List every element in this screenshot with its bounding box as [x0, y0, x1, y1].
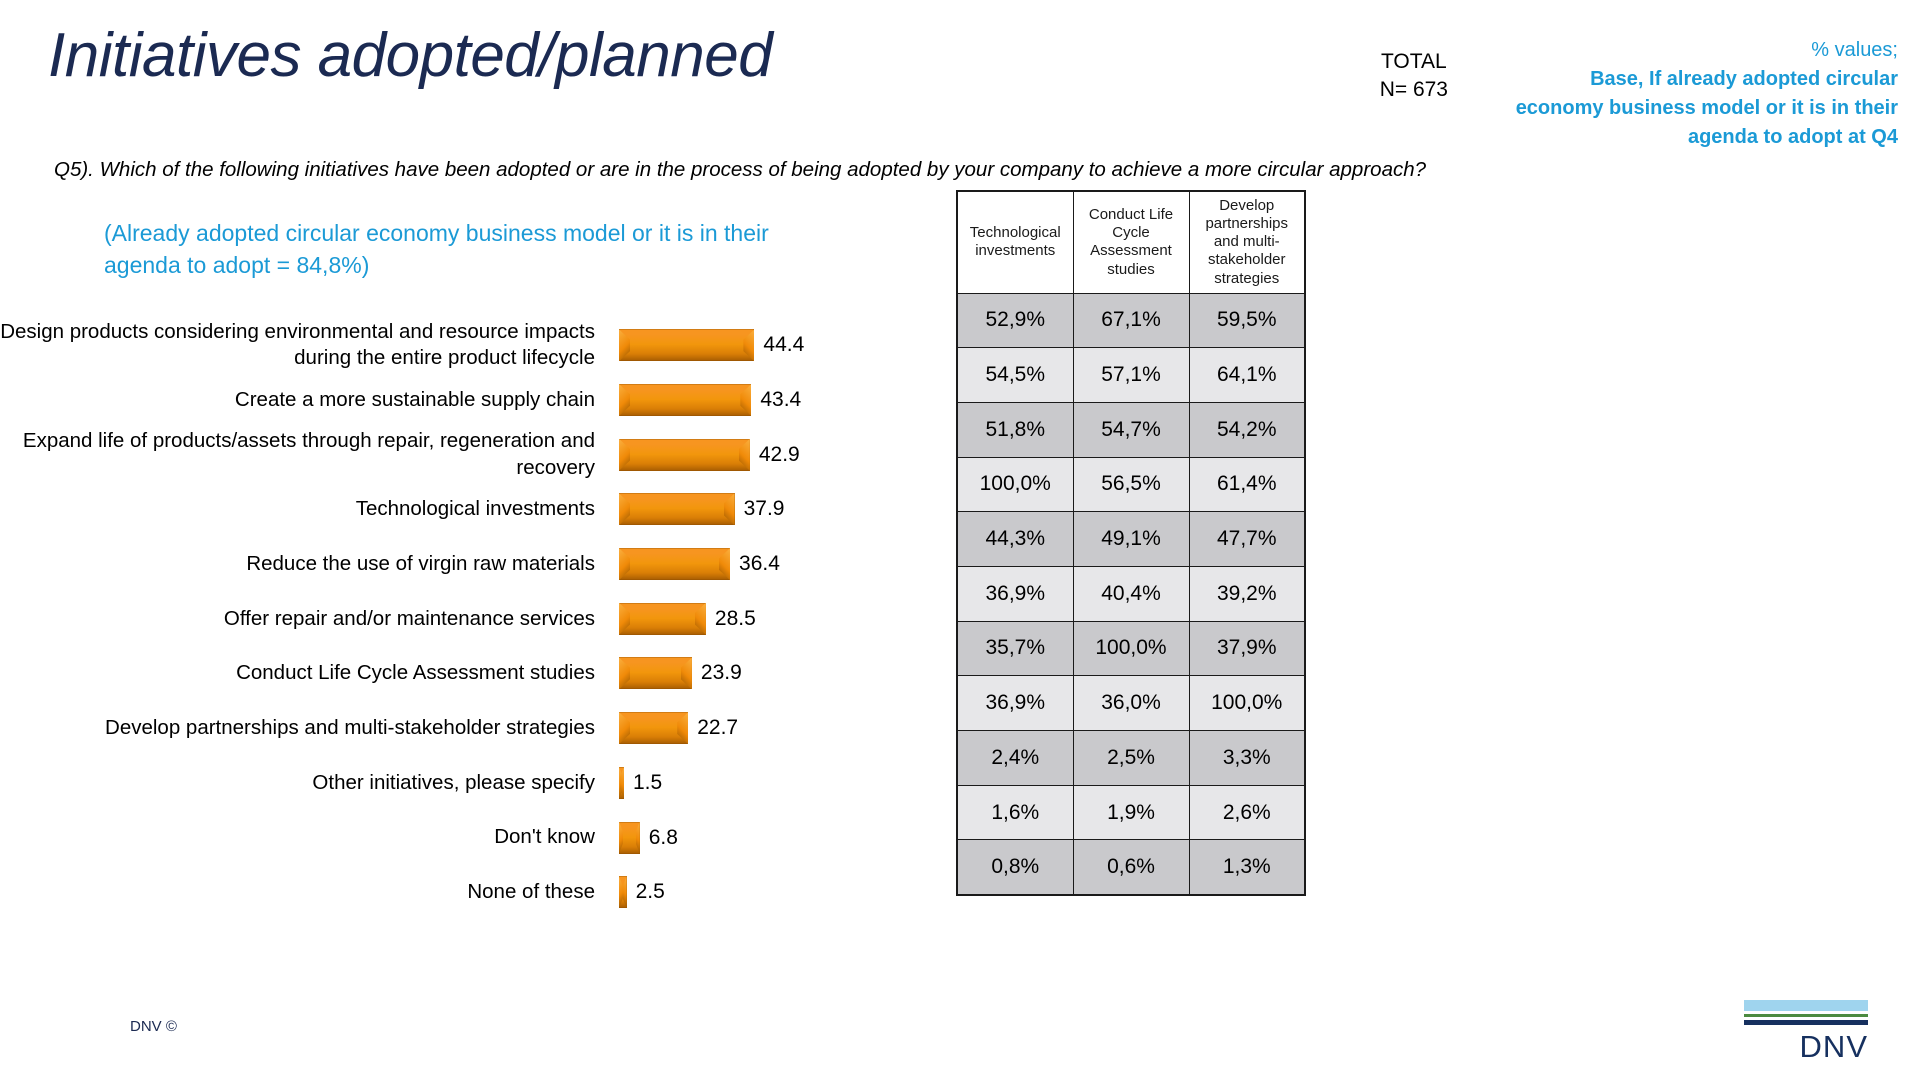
table-cell: 100,0% — [957, 457, 1073, 512]
table-row: 36,9%40,4%39,2% — [957, 566, 1305, 621]
bar-wrapper: 43.4 — [619, 384, 801, 416]
chart-row: Other initiatives, please specify1.5 — [0, 756, 940, 811]
table-row: 35,7%100,0%37,9% — [957, 621, 1305, 676]
bar-category-label: Don't know — [0, 824, 595, 850]
bar — [619, 439, 750, 471]
total-label: TOTAL — [1380, 48, 1448, 76]
table-cell: 100,0% — [1073, 621, 1189, 676]
bar-wrapper: 36.4 — [619, 548, 780, 580]
table-cell: 3,3% — [1189, 731, 1305, 786]
table-cell: 1,9% — [1073, 785, 1189, 840]
table-cell: 49,1% — [1073, 512, 1189, 567]
table-cell: 39,2% — [1189, 566, 1305, 621]
table-cell: 2,6% — [1189, 785, 1305, 840]
table-row: 51,8%54,7%54,2% — [957, 402, 1305, 457]
table-row: 44,3%49,1%47,7% — [957, 512, 1305, 567]
total-n-value: N= 673 — [1380, 76, 1448, 104]
table-cell: 54,7% — [1073, 402, 1189, 457]
chart-row: Reduce the use of virgin raw materials36… — [0, 537, 940, 592]
base-note: % values; Base, If already adopted circu… — [1498, 36, 1898, 152]
bar-value-label: 23.9 — [701, 661, 742, 685]
table-row: 1,6%1,9%2,6% — [957, 785, 1305, 840]
chart-row: Design products considering environmenta… — [0, 318, 940, 373]
page-title: Initiatives adopted/planned — [48, 20, 772, 91]
bar-value-label: 44.4 — [763, 333, 804, 357]
table-cell: 0,8% — [957, 840, 1073, 895]
bar-value-label: 43.4 — [760, 388, 801, 412]
total-base-block: TOTAL N= 673 — [1380, 48, 1448, 105]
table-cell: 54,5% — [957, 348, 1073, 403]
chart-row: Expand life of products/assets through r… — [0, 427, 940, 482]
bar-wrapper: 37.9 — [619, 493, 784, 525]
bar — [619, 657, 692, 689]
bar-category-label: Design products considering environmenta… — [0, 319, 595, 371]
table-cell: 57,1% — [1073, 348, 1189, 403]
bar — [619, 548, 730, 580]
bar-wrapper: 2.5 — [619, 876, 665, 908]
table-cell: 36,0% — [1073, 676, 1189, 731]
table-cell: 1,6% — [957, 785, 1073, 840]
bar-category-label: Reduce the use of virgin raw materials — [0, 551, 595, 577]
bar — [619, 822, 640, 854]
chart-row: Offer repair and/or maintenance services… — [0, 591, 940, 646]
table-cell: 52,9% — [957, 293, 1073, 348]
table-cell: 67,1% — [1073, 293, 1189, 348]
table-header-row: Technological investmentsConduct Life Cy… — [957, 191, 1305, 293]
chart-row: Technological investments37.9 — [0, 482, 940, 537]
footer-copyright: DNV © — [130, 1018, 177, 1035]
bar-wrapper: 22.7 — [619, 712, 738, 744]
table-cell: 1,3% — [1189, 840, 1305, 895]
table-cell: 47,7% — [1189, 512, 1305, 567]
table-cell: 36,9% — [957, 676, 1073, 731]
bar-category-label: Develop partnerships and multi-stakehold… — [0, 715, 595, 741]
bar-chart: Design products considering environmenta… — [0, 318, 940, 920]
table-cell: 2,4% — [957, 731, 1073, 786]
chart-row: Create a more sustainable supply chain43… — [0, 373, 940, 428]
base-note-description: Base, If already adopted circular econom… — [1498, 65, 1898, 152]
bar-wrapper: 44.4 — [619, 329, 804, 361]
table-cell: 37,9% — [1189, 621, 1305, 676]
adoption-note: (Already adopted circular economy busine… — [104, 218, 834, 281]
table-row: 100,0%56,5%61,4% — [957, 457, 1305, 512]
bar-value-label: 2.5 — [636, 880, 665, 904]
bar-wrapper: 42.9 — [619, 439, 800, 471]
bar-wrapper: 28.5 — [619, 603, 756, 635]
table-cell: 2,5% — [1073, 731, 1189, 786]
table-row: 52,9%67,1%59,5% — [957, 293, 1305, 348]
question-text: Q5). Which of the following initiatives … — [54, 158, 1426, 182]
logo-band-navy — [1744, 1020, 1868, 1025]
crosstab-table: Technological investmentsConduct Life Cy… — [956, 190, 1306, 896]
bar-wrapper: 6.8 — [619, 822, 678, 854]
bar — [619, 876, 627, 908]
table-column-header: Conduct Life Cycle Assessment studies — [1073, 191, 1189, 293]
table-cell: 35,7% — [957, 621, 1073, 676]
base-note-percent-values: % values; — [1498, 36, 1898, 65]
table-cell: 0,6% — [1073, 840, 1189, 895]
bar-category-label: Expand life of products/assets through r… — [0, 428, 595, 480]
bar-category-label: Technological investments — [0, 496, 595, 522]
logo-band-light — [1744, 1000, 1868, 1011]
bar — [619, 712, 688, 744]
table-column-header: Develop partnerships and multi-stakehold… — [1189, 191, 1305, 293]
table-body: 52,9%67,1%59,5%54,5%57,1%64,1%51,8%54,7%… — [957, 293, 1305, 895]
logo-band-green — [1744, 1014, 1868, 1017]
table-cell: 59,5% — [1189, 293, 1305, 348]
bar — [619, 329, 754, 361]
bar-value-label: 1.5 — [633, 771, 662, 795]
table-cell: 56,5% — [1073, 457, 1189, 512]
dnv-logo: DNV — [1744, 1000, 1868, 1062]
bar-category-label: Other initiatives, please specify — [0, 770, 595, 796]
bar-value-label: 37.9 — [744, 497, 785, 521]
table-cell: 44,3% — [957, 512, 1073, 567]
bar-value-label: 22.7 — [697, 716, 738, 740]
table-cell: 64,1% — [1189, 348, 1305, 403]
bar — [619, 603, 706, 635]
table-cell: 36,9% — [957, 566, 1073, 621]
bar-category-label: Conduct Life Cycle Assessment studies — [0, 660, 595, 686]
bar-category-label: Offer repair and/or maintenance services — [0, 606, 595, 632]
table-row: 36,9%36,0%100,0% — [957, 676, 1305, 731]
bar — [619, 767, 624, 799]
bar-category-label: None of these — [0, 879, 595, 905]
bar-value-label: 28.5 — [715, 607, 756, 631]
bar-wrapper: 1.5 — [619, 767, 662, 799]
bar-value-label: 6.8 — [649, 826, 678, 850]
bar-value-label: 42.9 — [759, 443, 800, 467]
table-row: 2,4%2,5%3,3% — [957, 731, 1305, 786]
bar — [619, 493, 735, 525]
bar-value-label: 36.4 — [739, 552, 780, 576]
chart-row: Don't know6.8 — [0, 810, 940, 865]
chart-row: Develop partnerships and multi-stakehold… — [0, 701, 940, 756]
table-cell: 61,4% — [1189, 457, 1305, 512]
bar-category-label: Create a more sustainable supply chain — [0, 387, 595, 413]
bar-wrapper: 23.9 — [619, 657, 742, 689]
table-row: 54,5%57,1%64,1% — [957, 348, 1305, 403]
logo-wordmark: DNV — [1744, 1031, 1868, 1062]
chart-row: None of these2.5 — [0, 865, 940, 920]
table-cell: 54,2% — [1189, 402, 1305, 457]
table-header: Technological investmentsConduct Life Cy… — [957, 191, 1305, 293]
bar — [619, 384, 751, 416]
table-row: 0,8%0,6%1,3% — [957, 840, 1305, 895]
table-cell: 40,4% — [1073, 566, 1189, 621]
chart-row: Conduct Life Cycle Assessment studies23.… — [0, 646, 940, 701]
table-column-header: Technological investments — [957, 191, 1073, 293]
table-cell: 100,0% — [1189, 676, 1305, 731]
table-cell: 51,8% — [957, 402, 1073, 457]
